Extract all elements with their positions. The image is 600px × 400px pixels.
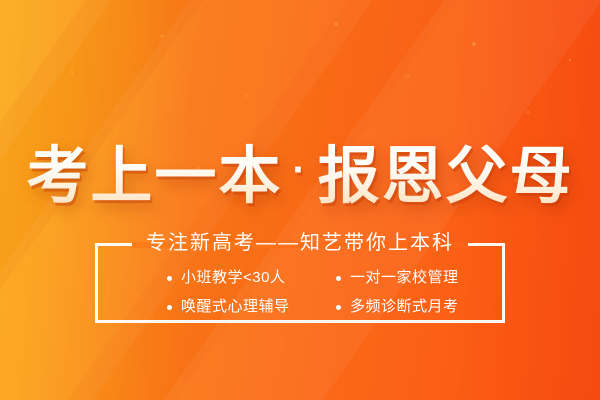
list-item: 小班教学<30人 (167, 266, 336, 290)
subtitle-container: 专注新高考——知艺带你上本科 (0, 230, 600, 256)
bullet-dot-icon (167, 305, 172, 310)
list-item-label: 唤醒式心理辅导 (181, 295, 290, 319)
headline-left-text: 考上一本 (26, 142, 282, 211)
bullet-dot-icon (167, 276, 172, 281)
headline: 考上一本·报恩父母 (26, 134, 573, 213)
promo-banner: 考上一本·报恩父母 专注新高考——知艺带你上本科 小班教学<30人 一对一家校管… (0, 0, 600, 400)
list-item-label: 小班教学<30人 (181, 266, 285, 290)
list-item: 多频诊断式月考 (336, 295, 505, 319)
headline-separator-dot: · (282, 148, 317, 192)
list-item-label: 多频诊断式月考 (350, 295, 459, 319)
headline-container: 考上一本·报恩父母 (0, 134, 600, 213)
list-item-label: 一对一家校管理 (350, 266, 459, 290)
bullet-dot-icon (336, 305, 341, 310)
list-item: 一对一家校管理 (336, 266, 505, 290)
list-item: 唤醒式心理辅导 (167, 295, 336, 319)
bullet-dot-icon (336, 276, 341, 281)
feature-list: 小班教学<30人 一对一家校管理 唤醒式心理辅导 多频诊断式月考 (95, 266, 505, 319)
headline-right-text: 报恩父母 (318, 142, 574, 211)
subtitle: 专注新高考——知艺带你上本科 (136, 230, 464, 256)
